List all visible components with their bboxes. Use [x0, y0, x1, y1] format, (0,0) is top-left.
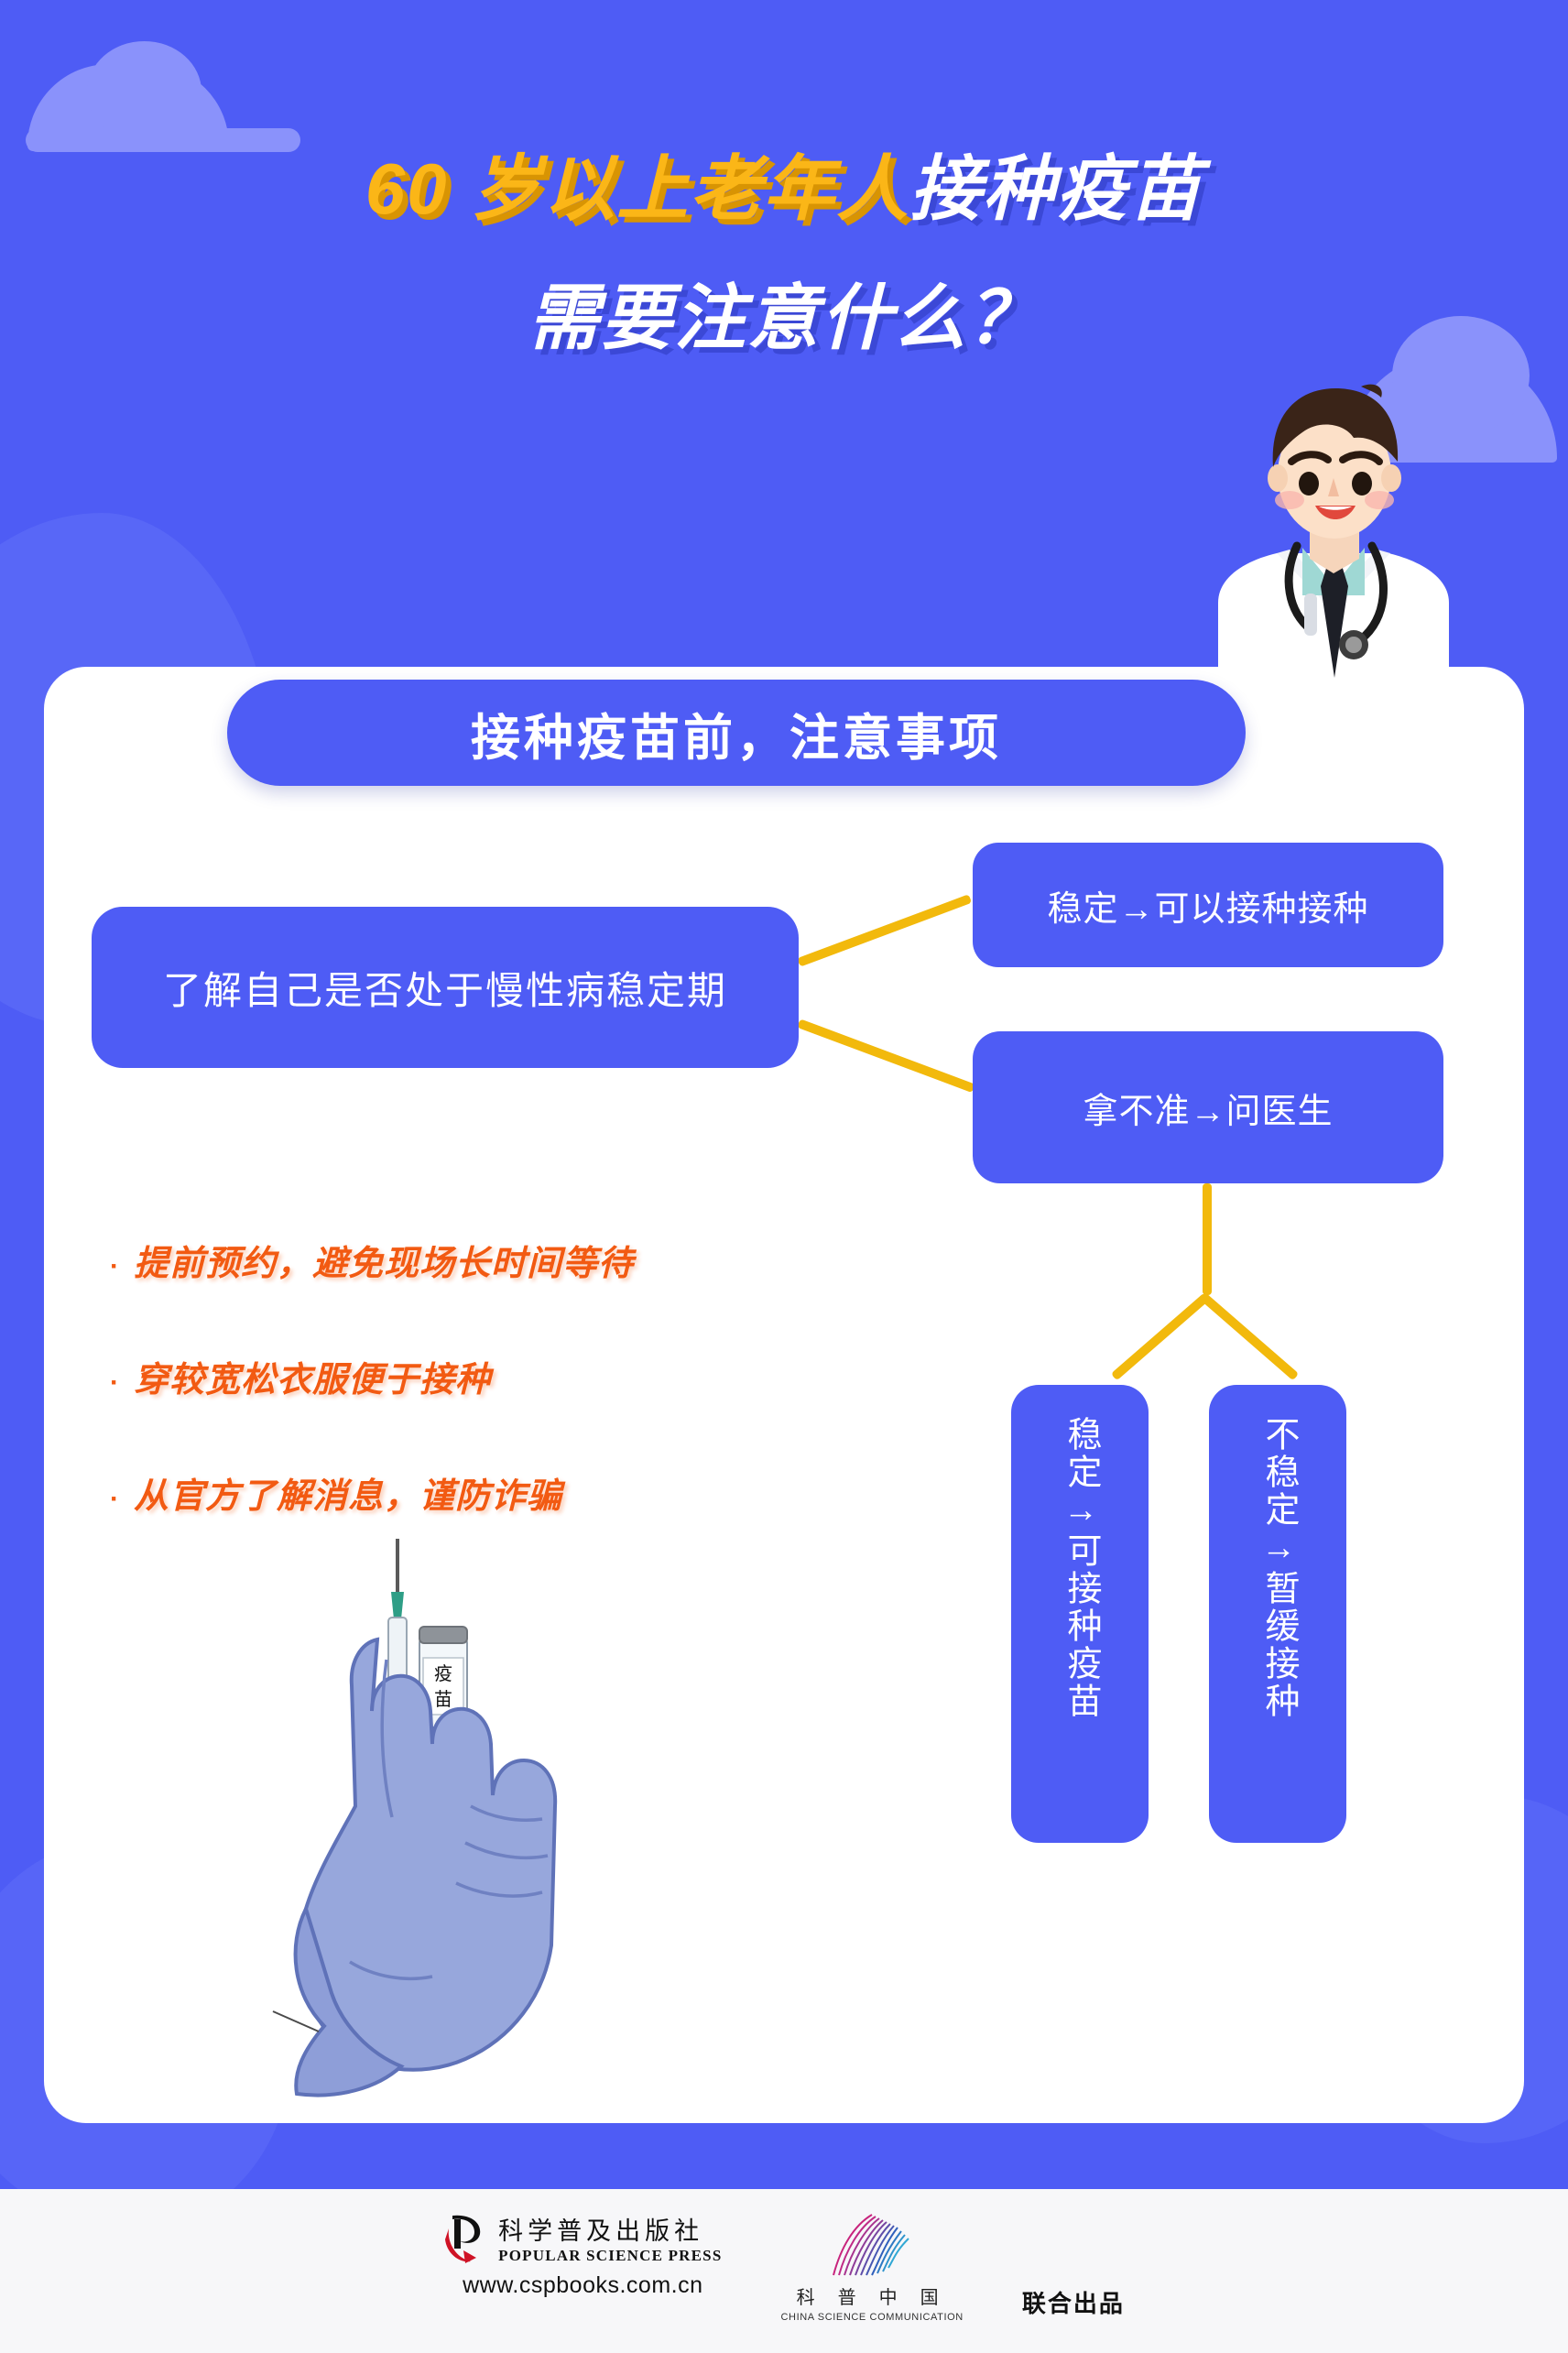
- page-subtitle: 需要注意什么？: [528, 278, 1040, 358]
- flow-box-unsure[interactable]: 拿不准→问医生: [973, 1031, 1443, 1183]
- partner-mark-icon: [817, 2211, 927, 2279]
- card-header-banner: 接种疫苗前，注意事项: [227, 680, 1246, 786]
- tips-list: · 提前预约，避免现场长时间等待 · 穿较宽松衣服便于接种 · 从官方了解消息，…: [110, 1235, 898, 1584]
- poster-root: 60 岁以上老年人接种疫苗 需要注意什么？: [0, 0, 1568, 2353]
- doctor-illustration: [1181, 366, 1484, 696]
- publisher-url[interactable]: www.cspbooks.com.cn: [463, 2272, 702, 2299]
- flow-box-leaf-stable[interactable]: 稳定→可接种疫苗: [1011, 1385, 1149, 1843]
- flow-box-leaf-stable-label: 稳定→可接种疫苗: [1062, 1416, 1098, 1720]
- bullet-marker-icon: ·: [110, 1253, 119, 1280]
- footer: 科学普及出版社 POPULAR SCIENCE PRESS www.cspboo…: [0, 2189, 1568, 2353]
- flow-box-unsure-label: 拿不准→问医生: [1083, 1083, 1333, 1133]
- list-item-label: 从官方了解消息，谨防诈骗: [134, 1467, 562, 1518]
- connector-line-split-stem: [1203, 1183, 1212, 1295]
- flow-box-stable-label: 稳定→可以接种接种: [1047, 880, 1368, 931]
- joint-production-label: 联合出品: [1022, 2285, 1125, 2319]
- list-item-label: 穿较宽松衣服便于接种: [134, 1351, 491, 1401]
- list-item: · 从官方了解消息，谨防诈骗: [110, 1467, 898, 1518]
- bullet-marker-icon: ·: [110, 1369, 119, 1397]
- flow-box-main-question[interactable]: 了解自己是否处于慢性病稳定期: [92, 907, 799, 1068]
- page-title-rest: 接种疫苗: [909, 148, 1203, 229]
- gloved-hand-syringe-illustration: 疫 苗: [240, 1531, 625, 2099]
- partner-name-en: CHINA SCIENCE COMMUNICATION: [781, 2312, 964, 2323]
- vial-label-char-2: 苗: [434, 1689, 452, 1710]
- flow-box-leaf-unstable[interactable]: 不稳定→暂缓接种: [1209, 1385, 1346, 1843]
- partner-logo-block: 科 普 中 国 CHINA SCIENCE COMMUNICATION: [781, 2211, 964, 2323]
- flow-box-leaf-unstable-label: 不稳定→暂缓接种: [1259, 1416, 1296, 1720]
- list-item: · 穿较宽松衣服便于接种: [110, 1351, 898, 1401]
- flow-box-main-label: 了解自己是否处于慢性病稳定期: [163, 960, 727, 1016]
- flow-box-stable[interactable]: 稳定→可以接种接种: [973, 843, 1443, 967]
- page-title: 60 岁以上老年人接种疫苗 需要注意什么？: [0, 137, 1568, 370]
- partner-name-cn: 科 普 中 国: [797, 2282, 948, 2309]
- list-item: · 提前预约，避免现场长时间等待: [110, 1235, 898, 1285]
- card-header-label: 接种疫苗前，注意事项: [471, 697, 1002, 769]
- vial-label-char-1: 疫: [434, 1663, 452, 1684]
- bullet-marker-icon: ·: [110, 1486, 119, 1513]
- publisher-name-en: POPULAR SCIENCE PRESS: [498, 2247, 722, 2265]
- list-item-label: 提前预约，避免现场长时间等待: [134, 1235, 634, 1285]
- publisher-mark-icon: [443, 2212, 485, 2265]
- publisher-logo-block: 科学普及出版社 POPULAR SCIENCE PRESS www.cspboo…: [443, 2211, 722, 2299]
- page-title-highlight: 60 岁以上老年人: [365, 148, 909, 229]
- publisher-name-cn: 科学普及出版社: [498, 2211, 722, 2247]
- cloud-icon-top-left-puff: [87, 41, 201, 142]
- publisher-logo-row: 科学普及出版社 POPULAR SCIENCE PRESS: [443, 2211, 722, 2265]
